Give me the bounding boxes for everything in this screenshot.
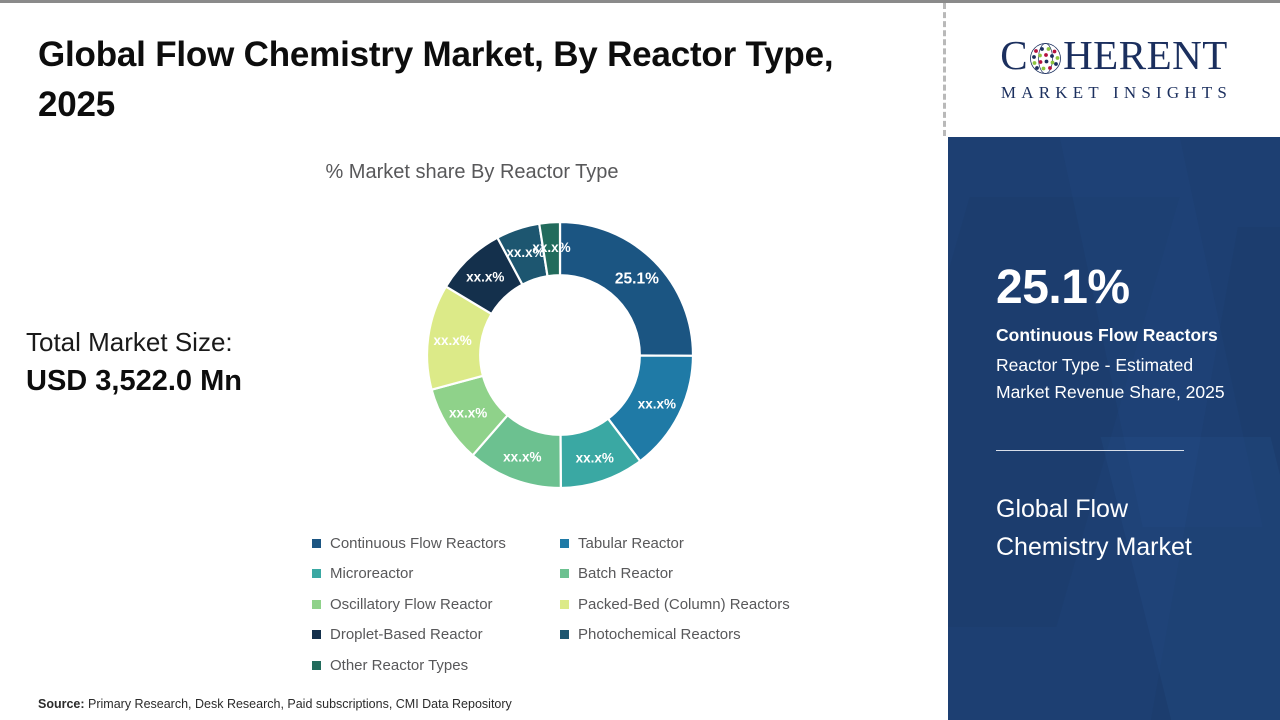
legend-swatch-icon — [312, 661, 321, 670]
source-label: Source: — [38, 697, 85, 711]
legend-item-label: Droplet-Based Reactor — [330, 626, 483, 643]
legend-item-label: Oscillatory Flow Reactor — [330, 596, 493, 613]
donut-slice-label: xx.x% — [638, 397, 676, 412]
highlight-panel: 25.1% Continuous Flow Reactors Reactor T… — [948, 137, 1280, 720]
highlight-market-name: Global Flow Chemistry Market — [996, 490, 1211, 566]
highlight-panel-divider — [996, 450, 1184, 451]
legend-item-label: Tabular Reactor — [578, 535, 684, 552]
highlight-stat-description: Reactor Type - Estimated Market Revenue … — [996, 352, 1241, 407]
chart-subtitle: % Market share By Reactor Type — [0, 161, 944, 184]
donut-slice-label: xx.x% — [576, 451, 614, 466]
donut-slice-label: xx.x% — [532, 240, 570, 255]
source-text: Primary Research, Desk Research, Paid su… — [85, 697, 512, 711]
page-title: Global Flow Chemistry Market, By Reactor… — [38, 30, 908, 129]
legend-item[interactable]: Continuous Flow Reactors — [312, 528, 560, 559]
legend-item-label: Continuous Flow Reactors — [330, 535, 506, 552]
legend-item[interactable]: Batch Reactor — [560, 559, 932, 590]
brand-logo-box: C — [948, 3, 1280, 134]
legend-item[interactable]: Packed-Bed (Column) Reactors — [560, 589, 932, 620]
donut-slice-label: xx.x% — [466, 269, 504, 284]
donut-slice-label: xx.x% — [503, 450, 541, 465]
legend-item-label: Photochemical Reactors — [578, 626, 741, 643]
legend-swatch-icon — [560, 600, 569, 609]
infographic-slide: Global Flow Chemistry Market, By Reactor… — [0, 0, 1280, 720]
left-content-pane: Global Flow Chemistry Market, By Reactor… — [0, 3, 944, 720]
legend-item[interactable]: Oscillatory Flow Reactor — [312, 589, 560, 620]
legend-item-label: Other Reactor Types — [330, 657, 468, 674]
legend-swatch-icon — [560, 539, 569, 548]
legend-swatch-icon — [312, 569, 321, 578]
donut-slice-label: 25.1% — [615, 271, 659, 288]
legend-swatch-icon — [312, 600, 321, 609]
brand-wordmark: C — [1000, 35, 1228, 76]
legend-swatch-icon — [312, 539, 321, 548]
legend-swatch-icon — [560, 630, 569, 639]
brand-tagline: MARKET INSIGHTS — [996, 83, 1232, 103]
legend-item[interactable]: Droplet-Based Reactor — [312, 620, 560, 651]
brand-letter-c: C — [1000, 35, 1028, 76]
donut-chart: 25.1%xx.x%xx.x%xx.x%xx.x%xx.x%xx.x%xx.x%… — [425, 220, 695, 490]
legend-item-label: Batch Reactor — [578, 565, 673, 582]
highlight-panel-content: 25.1% Continuous Flow Reactors Reactor T… — [996, 137, 1256, 720]
brand-letters-herent: HERENT — [1063, 35, 1228, 76]
total-market-size-value: USD 3,522.0 Mn — [26, 365, 242, 398]
chart-legend: Continuous Flow ReactorsTabular ReactorM… — [312, 528, 932, 681]
legend-item[interactable]: Tabular Reactor — [560, 528, 932, 559]
highlight-stat-name: Continuous Flow Reactors — [996, 325, 1218, 346]
donut-slice-label: xx.x% — [449, 406, 487, 421]
donut-chart-svg: 25.1%xx.x%xx.x%xx.x%xx.x%xx.x%xx.x%xx.x%… — [425, 220, 695, 490]
donut-slice[interactable] — [560, 222, 693, 356]
legend-swatch-icon — [312, 630, 321, 639]
legend-item[interactable]: Other Reactor Types — [312, 650, 560, 681]
donut-slice-label: xx.x% — [433, 333, 471, 348]
source-note: Source: Primary Research, Desk Research,… — [38, 697, 512, 711]
highlight-stat-value: 25.1% — [996, 264, 1130, 312]
legend-item[interactable]: Microreactor — [312, 559, 560, 590]
legend-item[interactable]: Photochemical Reactors — [560, 620, 932, 651]
total-market-size-label: Total Market Size: — [26, 327, 233, 358]
globe-dots-icon — [1029, 41, 1062, 74]
legend-item-label: Packed-Bed (Column) Reactors — [578, 596, 790, 613]
legend-item-label: Microreactor — [330, 565, 413, 582]
legend-swatch-icon — [560, 569, 569, 578]
